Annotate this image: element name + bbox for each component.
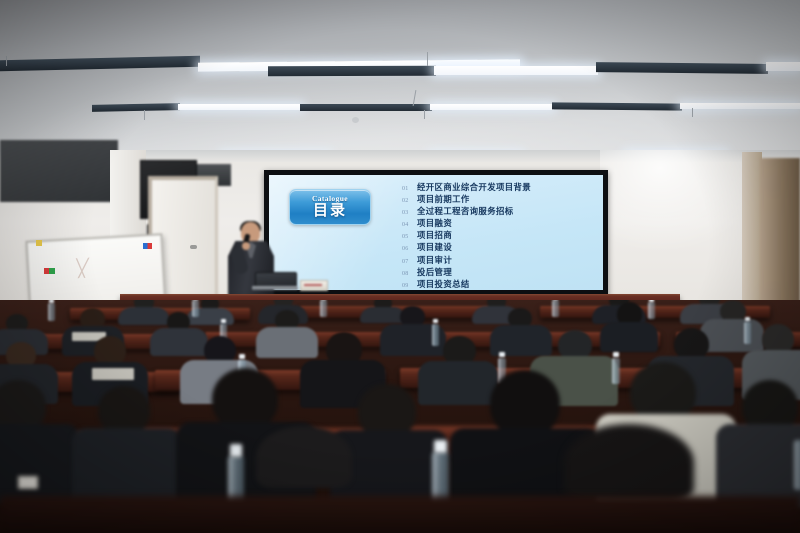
audience-member [0, 380, 80, 490]
bottle-cap [433, 319, 438, 323]
water-bottle [794, 440, 800, 490]
toc-item-label: 项目建设 [417, 241, 452, 253]
presenter [228, 222, 274, 304]
water-bottle [48, 303, 55, 321]
hat-icon [564, 424, 694, 502]
audience-seating-area [0, 300, 800, 533]
hat-icon [256, 426, 352, 488]
toc-item: 05项目招商 [402, 229, 602, 241]
presenter-hand [242, 242, 250, 250]
bottle-cap [230, 444, 242, 457]
toc-item-label: 项目前期工作 [417, 193, 470, 205]
toc-item-number: 05 [402, 234, 417, 240]
toc-item-number: 09 [402, 283, 417, 289]
laptop[interactable] [252, 272, 298, 290]
whiteboard-magnet-icon [143, 243, 152, 249]
projection-screen[interactable]: Catalogue 目录 01经开区商业综合开发项目背景02项目前期工作03全过… [269, 175, 603, 290]
toc-item-label: 项目融资 [417, 217, 452, 229]
catalogue-label-cn: 目录 [313, 203, 347, 220]
document-sheet [92, 368, 134, 380]
name-plate [300, 280, 328, 291]
whiteboard-magnet-icon [49, 268, 55, 274]
toc-item-label: 项目招商 [417, 229, 452, 241]
toc-item: 02项目前期工作 [402, 193, 602, 205]
name-badge [18, 476, 38, 489]
toc-item-number: 03 [402, 210, 417, 216]
door-handle-icon[interactable] [190, 245, 197, 249]
laptop-keyboard [252, 286, 298, 290]
bottle-cap [745, 317, 750, 321]
toc-item-label: 投后管理 [417, 266, 452, 278]
presentation-room-photo: Catalogue 目录 01经开区商业综合开发项目背景02项目前期工作03全过… [0, 0, 800, 533]
door-right[interactable] [760, 158, 800, 308]
foreground-shadow [0, 496, 800, 533]
toc-item-label: 全过程工程咨询服务招标 [417, 205, 514, 217]
bottle-cap [239, 354, 245, 359]
toc-item: 06项目建设 [402, 241, 602, 253]
water-bottle [320, 300, 327, 317]
bottle-cap [499, 352, 505, 357]
toc-item-number: 01 [402, 186, 417, 192]
bottle-cap [221, 319, 226, 323]
bottle-cap [434, 440, 447, 453]
audience-member [716, 380, 800, 500]
toc-item: 03全过程工程咨询服务招标 [402, 205, 602, 217]
whiteboard-magnet-icon [36, 240, 42, 246]
toc-item-number: 04 [402, 222, 417, 228]
bottle-cap [49, 300, 54, 303]
water-bottle [552, 300, 559, 317]
wall-display-panel [0, 140, 118, 202]
toc-item: 08投后管理 [402, 266, 602, 278]
toc-item-label: 经开区商业综合开发项目背景 [417, 181, 531, 193]
ceiling-light-glow [0, 0, 800, 175]
bottle-cap [613, 352, 619, 357]
toc-item-label: 项目投资总结 [417, 278, 470, 290]
catalogue-label-en: Catalogue [312, 195, 348, 203]
slide-table-of-contents: 01经开区商业综合开发项目背景02项目前期工作03全过程工程咨询服务招标04项目… [402, 181, 602, 290]
toc-item: 07项目审计 [402, 254, 602, 266]
slide-catalogue-badge: Catalogue 目录 [289, 189, 371, 225]
toc-item-number: 08 [402, 271, 417, 277]
toc-item: 09项目投资总结 [402, 278, 602, 290]
wall-column-right [742, 152, 762, 308]
toc-item: 04项目融资 [402, 217, 602, 229]
toc-item-number: 02 [402, 198, 417, 204]
toc-item: 01经开区商业综合开发项目背景 [402, 181, 602, 193]
whiteboard-writing [62, 257, 103, 279]
toc-item-number: 06 [402, 246, 417, 252]
toc-item-label: 项目审计 [417, 254, 452, 266]
toc-item-number: 07 [402, 259, 417, 265]
audience-member [72, 386, 182, 492]
